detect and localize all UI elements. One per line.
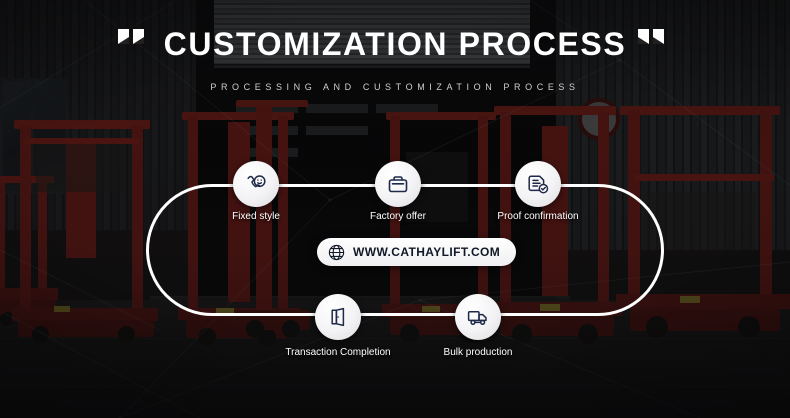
process-label-factory-offer: Factory offer [338, 211, 458, 222]
website-pill[interactable]: WWW.CATHAYLIFT.COM [317, 238, 516, 266]
process-node-transaction-completion[interactable] [315, 294, 361, 340]
process-label-transaction-completion: Transaction Completion [268, 347, 408, 358]
banner-stage: CUSTOMIZATION PROCESS PROCESSING AND CUS… [0, 0, 790, 418]
page-subtitle: PROCESSING AND CUSTOMIZATION PROCESS [0, 82, 790, 92]
briefcase-icon [386, 172, 410, 196]
quote-open-icon [118, 16, 148, 50]
process-node-bulk-production[interactable] [455, 294, 501, 340]
customer-service-phone-icon [244, 172, 268, 196]
page-title: CUSTOMIZATION PROCESS [164, 28, 627, 60]
open-door-icon [326, 305, 350, 329]
process-label-fixed-style: Fixed style [196, 211, 316, 222]
delivery-truck-icon [466, 305, 490, 329]
process-node-proof-confirmation[interactable] [515, 161, 561, 207]
page-title-text: CUSTOMIZATION PROCESS [164, 26, 627, 62]
quote-close-icon [638, 16, 668, 50]
process-node-factory-offer[interactable] [375, 161, 421, 207]
title-block: CUSTOMIZATION PROCESS [0, 28, 790, 60]
process-node-fixed-style[interactable] [233, 161, 279, 207]
process-label-proof-confirmation: Proof confirmation [478, 211, 598, 222]
banner-content: CUSTOMIZATION PROCESS PROCESSING AND CUS… [0, 0, 790, 418]
document-check-icon [526, 172, 550, 196]
process-label-bulk-production: Bulk production [418, 347, 538, 358]
website-url-text: WWW.CATHAYLIFT.COM [353, 245, 500, 259]
globe-icon [327, 243, 346, 262]
